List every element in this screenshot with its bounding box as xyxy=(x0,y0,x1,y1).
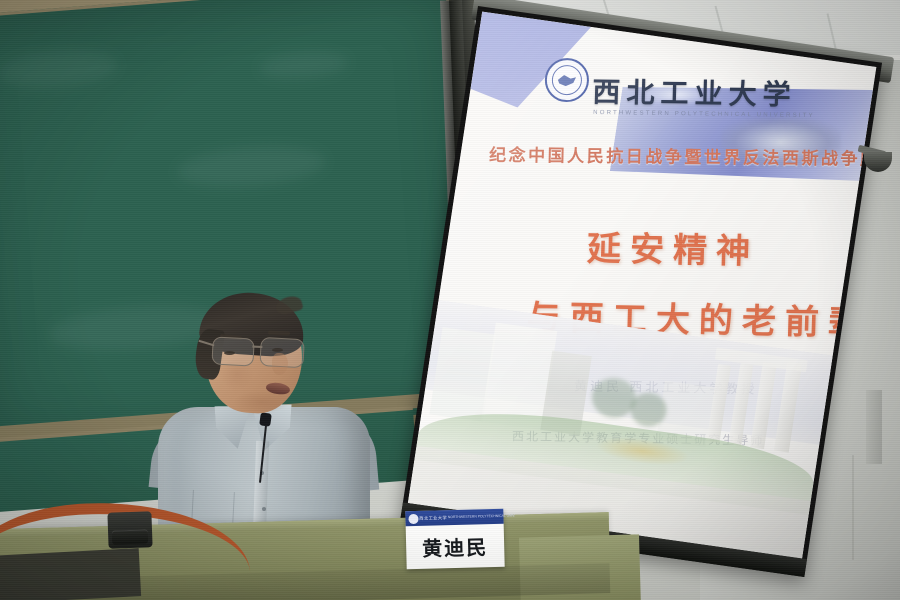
university-seal-icon xyxy=(544,58,589,103)
nameplate: 西北工业大学 NORTHWESTERN POLYTECHNICAL UNIV. … xyxy=(405,509,504,569)
nameplate-university: 西北工业大学 xyxy=(419,515,447,521)
slide-university-name: 西北工业大学 xyxy=(592,71,797,114)
projection-screen-surface: 西北工业大学 NORTHWESTERN POLYTECHNICAL UNIVER… xyxy=(408,12,876,559)
podium-dark-equipment xyxy=(0,548,141,600)
presentation-slide: 西北工业大学 NORTHWESTERN POLYTECHNICAL UNIVER… xyxy=(408,12,876,559)
projection-screen-frame: 西北工业大学 NORTHWESTERN POLYTECHNICAL UNIVER… xyxy=(400,6,882,577)
wall-cable xyxy=(852,455,854,560)
slide-title-line1: 延安精神 xyxy=(586,221,760,273)
speaker-hair-wisp xyxy=(274,294,303,317)
projection-screen-assembly: 西北工业大学 NORTHWESTERN POLYTECHNICAL UNIVER… xyxy=(470,0,900,552)
chin-shading xyxy=(234,391,290,413)
lecture-hall-photo: 西北工业大学 NORTHWESTERN POLYTECHNICAL UNIVER… xyxy=(0,0,900,600)
camera-lens xyxy=(112,529,148,544)
nameplate-seal-icon xyxy=(408,513,418,523)
slide-commemorative-banner: 纪念中国人民抗日战争暨世界反法西斯战争胜利80周年 xyxy=(489,141,877,171)
wall-panel xyxy=(866,390,882,464)
nameplate-speaker-name: 黄迪民 xyxy=(406,524,505,569)
